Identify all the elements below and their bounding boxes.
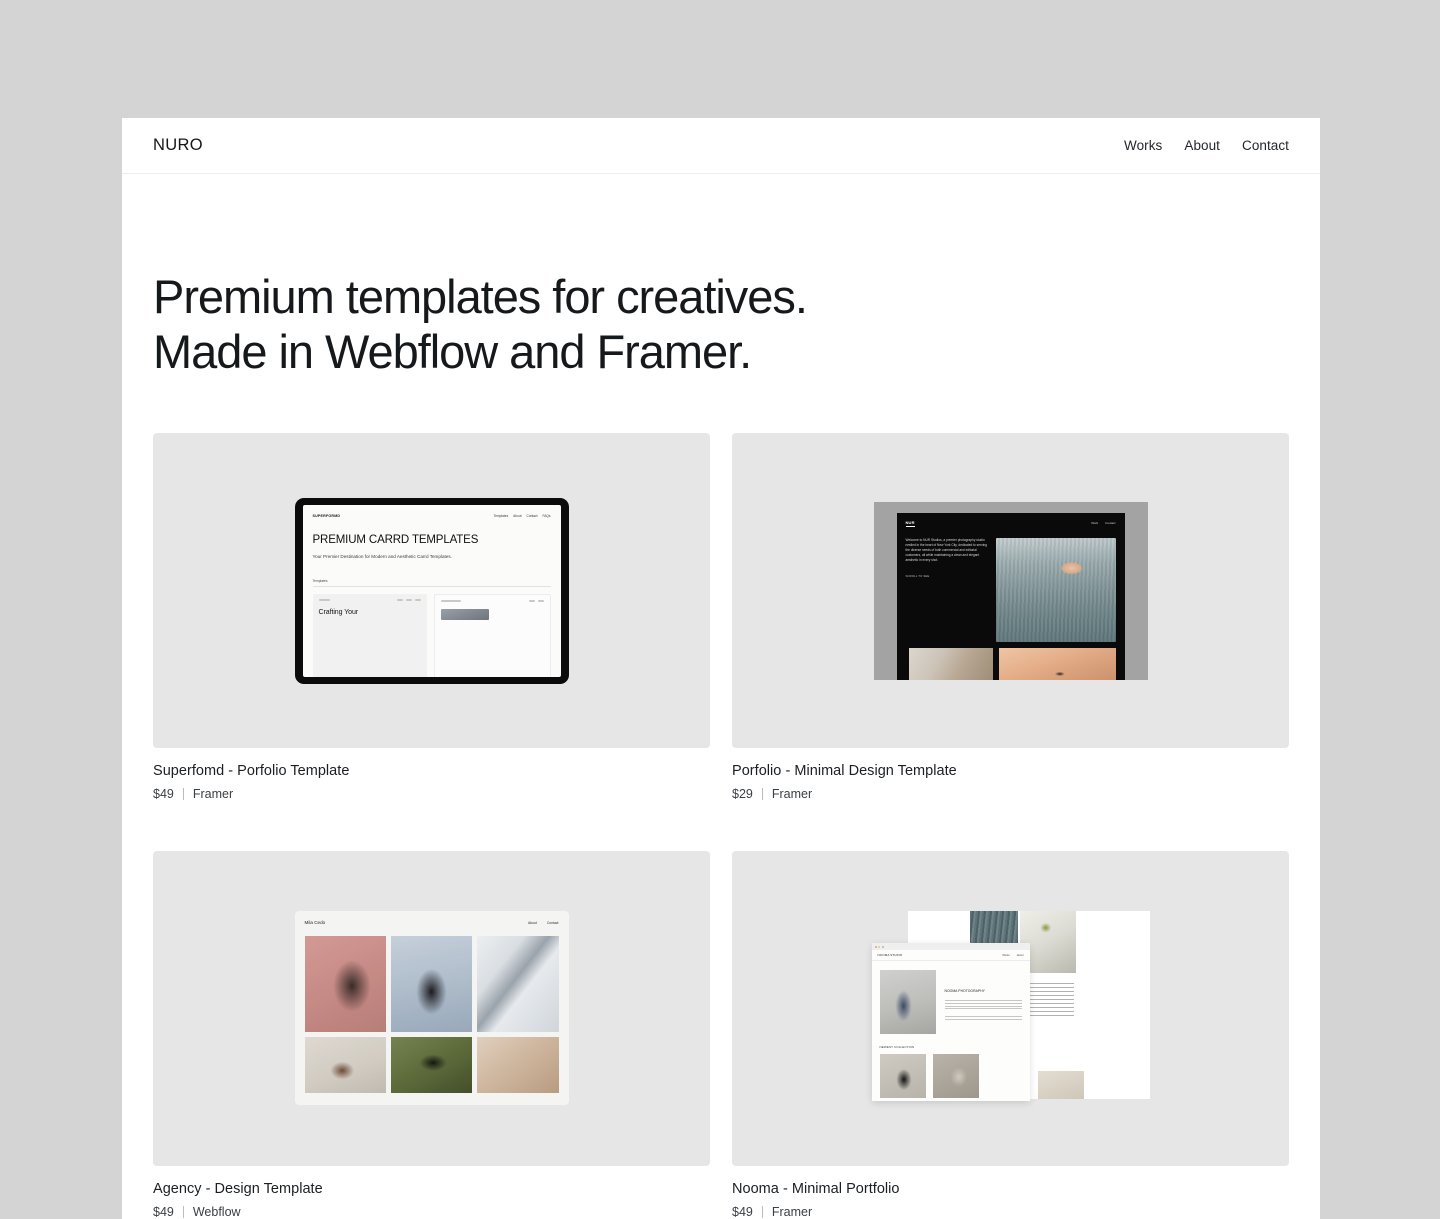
placeholder-dot xyxy=(538,600,544,602)
preview-photo-chair xyxy=(909,648,993,680)
text-line xyxy=(945,1019,1022,1020)
work-title: Superfomd - Porfolio Template xyxy=(153,762,710,781)
preview-logo: NOOMA STUDIO xyxy=(878,953,903,957)
preview-nav-item-contact: Contact xyxy=(547,921,559,925)
preview-paragraph: Welcome to NUR Studios, a premier photog… xyxy=(906,538,990,564)
preview-body: Welcome to NUR Studios, a premier photog… xyxy=(906,538,1116,642)
preview-photo-grid xyxy=(305,936,559,1093)
work-card-superfomd[interactable]: SUPERFORMD Templates About Contact FAQs … xyxy=(153,433,710,801)
preview-nav: Templates About Contact FAQs xyxy=(494,514,551,518)
preview-header: NUR Work Contact xyxy=(906,520,1116,527)
tablet-mockup: SUPERFORMD Templates About Contact FAQs … xyxy=(295,498,569,684)
text-line xyxy=(945,1008,1022,1009)
work-platform: Framer xyxy=(772,1205,812,1219)
preview-logo: SUPERFORMD xyxy=(313,514,341,518)
works-grid: SUPERFORMD Templates About Contact FAQs … xyxy=(122,379,1320,1219)
preview-photo-a xyxy=(880,1054,926,1098)
work-meta: Porfolio - Minimal Design Template $29 F… xyxy=(732,748,1289,801)
text-line xyxy=(945,1000,1022,1001)
preview-nav-item-about: About xyxy=(513,514,521,518)
work-subtitle: $49 Webflow xyxy=(153,1205,710,1219)
preview-nav-item-works: Works xyxy=(1002,954,1009,957)
placeholder-dot xyxy=(406,599,412,601)
work-title: Porfolio - Minimal Design Template xyxy=(732,762,1289,781)
work-price: $49 xyxy=(153,787,174,801)
preview-header: Mila Cedo About Contact xyxy=(305,920,559,925)
nav-link-contact[interactable]: Contact xyxy=(1242,138,1289,153)
preview-nav-item-about: About xyxy=(528,921,537,925)
preview-nav-item-templates: Templates xyxy=(494,514,509,518)
work-thumbnail-agency[interactable]: Mila Cedo About Contact xyxy=(153,851,710,1166)
preview-card-bar xyxy=(441,600,544,602)
preview-nav-item-contact: Contact xyxy=(527,514,538,518)
main-navigation: Works About Contact xyxy=(1124,138,1289,153)
work-meta: Agency - Design Template $49 Webflow xyxy=(153,1166,710,1219)
preview-logo: NUR xyxy=(906,520,915,527)
preview-heading: NOOMA PHOTOGRAPHY xyxy=(945,989,1022,993)
work-title: Agency - Design Template xyxy=(153,1180,710,1199)
preview-paragraph: Your Premier Destination for Modern and … xyxy=(313,554,463,561)
work-price: $29 xyxy=(732,787,753,801)
separator-divider xyxy=(183,788,184,800)
preview-card-row: Crafting Your xyxy=(313,594,551,677)
preview-card-right xyxy=(434,594,551,677)
preview-photo-b xyxy=(933,1054,979,1098)
separator-divider xyxy=(762,788,763,800)
separator-divider xyxy=(183,1206,184,1218)
preview-card-left: Crafting Your xyxy=(313,594,428,677)
work-card-nooma[interactable]: NOOMA STUDIO Works About NOOMA PHOTOGRAP… xyxy=(732,851,1289,1219)
preview-photo-figure xyxy=(880,970,936,1034)
preview-text-lines-secondary xyxy=(945,1016,1022,1020)
separator-divider xyxy=(762,1206,763,1218)
placeholder-bar xyxy=(319,599,330,601)
work-subtitle: $49 Framer xyxy=(732,1205,1289,1219)
preview-copy: Welcome to NUR Studios, a premier photog… xyxy=(906,538,990,642)
preview-photo-3 xyxy=(477,936,558,1032)
window-maximize-dot-icon xyxy=(882,946,884,948)
preview-photo-row xyxy=(906,648,1116,680)
hero-section: Premium templates for creatives. Made in… xyxy=(122,174,1320,379)
preview-text-lines xyxy=(945,1000,1022,1009)
preview-photo-5 xyxy=(391,1037,472,1093)
preview-scroll-label: SCROLL TO SEE xyxy=(906,574,990,578)
device-frame: NUR Work Contact Welcome to NUR Studios,… xyxy=(874,502,1148,680)
site-header: NURO Works About Contact xyxy=(122,118,1320,174)
work-price: $49 xyxy=(153,1205,174,1219)
placeholder-dots xyxy=(397,599,421,601)
work-thumbnail-porfolio[interactable]: NUR Work Contact Welcome to NUR Studios,… xyxy=(732,433,1289,748)
preview-nav: Work Contact xyxy=(1091,521,1115,525)
preview-card-bar xyxy=(319,599,422,601)
preview-nav: Works About xyxy=(1002,954,1023,957)
preview-photo-2 xyxy=(391,936,472,1032)
window-close-dot-icon xyxy=(875,946,877,948)
browser-mockup-stack: NOOMA STUDIO Works About NOOMA PHOTOGRAP… xyxy=(872,911,1150,1105)
preview-photo-portrait xyxy=(999,648,1116,680)
work-subtitle: $49 Framer xyxy=(153,787,710,801)
work-title: Nooma - Minimal Portfolio xyxy=(732,1180,1289,1199)
text-line xyxy=(945,1006,1022,1007)
preview-nav: About Contact xyxy=(528,921,559,925)
preview-body: NOOMA PHOTOGRAPHY xyxy=(872,961,1030,1034)
preview-nav-item-work: Work xyxy=(1091,521,1098,525)
preview-header: SUPERFORMD Templates About Contact FAQs xyxy=(313,514,551,518)
preview-card-title: Crafting Your xyxy=(319,609,422,616)
preview-logo: Mila Cedo xyxy=(305,920,326,925)
text-line xyxy=(945,1003,1022,1004)
preview-section-label: Templates xyxy=(313,579,551,587)
work-platform: Webflow xyxy=(193,1205,241,1219)
work-card-porfolio[interactable]: NUR Work Contact Welcome to NUR Studios,… xyxy=(732,433,1289,801)
preview-nav-item-faqs: FAQs xyxy=(543,514,551,518)
preview-image-placeholder xyxy=(441,609,489,620)
work-platform: Framer xyxy=(193,787,233,801)
preview-hero-photo-swimmer xyxy=(996,538,1116,642)
site-page: NURO Works About Contact Premium templat… xyxy=(122,118,1320,1219)
preview-foreground-window: NOOMA STUDIO Works About NOOMA PHOTOGRAP… xyxy=(872,943,1030,1101)
work-card-agency[interactable]: Mila Cedo About Contact xyxy=(153,851,710,1219)
page-title: Premium templates for creatives. Made in… xyxy=(153,270,1289,379)
preview-photo-row xyxy=(872,1054,1030,1098)
preview-photo-6 xyxy=(477,1037,558,1093)
text-line xyxy=(945,1016,1022,1017)
preview-screen: NUR Work Contact Welcome to NUR Studios,… xyxy=(897,513,1125,680)
placeholder-dot xyxy=(415,599,421,601)
preview-photo-1 xyxy=(305,936,386,1032)
work-meta: Superfomd - Porfolio Template $49 Framer xyxy=(153,748,710,801)
preview-nav-item-contact: Contact xyxy=(1105,521,1115,525)
placeholder-bar xyxy=(441,600,461,602)
hero-line-2: Made in Webflow and Framer. xyxy=(153,325,1289,380)
placeholder-dot xyxy=(529,600,535,602)
work-subtitle: $29 Framer xyxy=(732,787,1289,801)
nav-link-works[interactable]: Works xyxy=(1124,138,1162,153)
work-platform: Framer xyxy=(772,787,812,801)
nav-link-about[interactable]: About xyxy=(1184,138,1220,153)
preview-screen: Mila Cedo About Contact xyxy=(295,911,569,1105)
work-thumbnail-superfomd[interactable]: SUPERFORMD Templates About Contact FAQs … xyxy=(153,433,710,748)
preview-heading: PREMIUM CARRD TEMPLATES xyxy=(313,534,551,547)
preview-section-label: NEWEST COLLECTION xyxy=(872,1045,1030,1049)
window-minimize-dot-icon xyxy=(878,946,880,948)
work-price: $49 xyxy=(732,1205,753,1219)
work-meta: Nooma - Minimal Portfolio $49 Framer xyxy=(732,1166,1289,1219)
work-thumbnail-nooma[interactable]: NOOMA STUDIO Works About NOOMA PHOTOGRAP… xyxy=(732,851,1289,1166)
preview-copy: NOOMA PHOTOGRAPHY xyxy=(945,970,1022,1034)
hero-line-1: Premium templates for creatives. xyxy=(153,270,1289,325)
brand-logo[interactable]: NURO xyxy=(153,136,203,155)
preview-photo-bottom xyxy=(1038,1071,1084,1099)
browser-chrome-bar xyxy=(872,943,1030,950)
preview-header: NOOMA STUDIO Works About xyxy=(872,950,1030,961)
placeholder-dot xyxy=(397,599,403,601)
tablet-screen: SUPERFORMD Templates About Contact FAQs … xyxy=(303,505,561,677)
placeholder-dots xyxy=(529,600,544,602)
preview-photo-4 xyxy=(305,1037,386,1093)
preview-nav-item-about: About xyxy=(1017,954,1024,957)
